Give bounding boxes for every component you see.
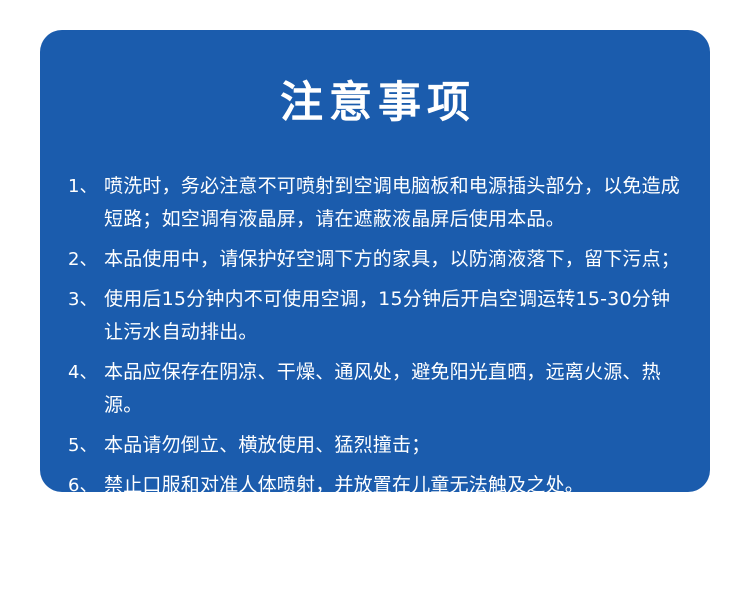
list-item-number: 6、 [68,469,104,502]
notice-card: 注意事项 1、 喷洗时，务必注意不可喷射到空调电脑板和电源插头部分，以免造成短路… [40,30,710,492]
list-item: 3、 使用后15分钟内不可使用空调，15分钟后开启空调运转15-30分钟让污水自… [68,283,682,349]
list-item: 2、 本品使用中，请保护好空调下方的家具，以防滴液落下，留下污点； [68,243,682,276]
list-item-text: 本品请勿倒立、横放使用、猛烈撞击； [104,429,682,462]
list-item-text: 本品使用中，请保护好空调下方的家具，以防滴液落下，留下污点； [104,243,682,276]
list-item-text: 禁止口服和对准人体喷射，并放置在儿童无法触及之处。 [104,469,682,502]
notice-list: 1、 喷洗时，务必注意不可喷射到空调电脑板和电源插头部分，以免造成短路；如空调有… [68,170,682,502]
list-item-number: 3、 [68,283,104,316]
list-item: 4、 本品应保存在阴凉、干燥、通风处，避免阳光直晒，远离火源、热源。 [68,356,682,422]
list-item-text: 本品应保存在阴凉、干燥、通风处，避免阳光直晒，远离火源、热源。 [104,356,682,422]
list-item: 1、 喷洗时，务必注意不可喷射到空调电脑板和电源插头部分，以免造成短路；如空调有… [68,170,682,236]
list-item-text: 喷洗时，务必注意不可喷射到空调电脑板和电源插头部分，以免造成短路；如空调有液晶屏… [104,170,682,236]
list-item: 6、 禁止口服和对准人体喷射，并放置在儿童无法触及之处。 [68,469,682,502]
list-item-number: 4、 [68,356,104,389]
list-item-text: 使用后15分钟内不可使用空调，15分钟后开启空调运转15-30分钟让污水自动排出… [104,283,682,349]
list-item-number: 1、 [68,170,104,203]
page-title: 注意事项 [40,78,710,130]
page-root: 注意事项 1、 喷洗时，务必注意不可喷射到空调电脑板和电源插头部分，以免造成短路… [0,0,750,593]
list-item: 5、 本品请勿倒立、横放使用、猛烈撞击； [68,429,682,462]
list-item-number: 2、 [68,243,104,276]
list-item-number: 5、 [68,429,104,462]
